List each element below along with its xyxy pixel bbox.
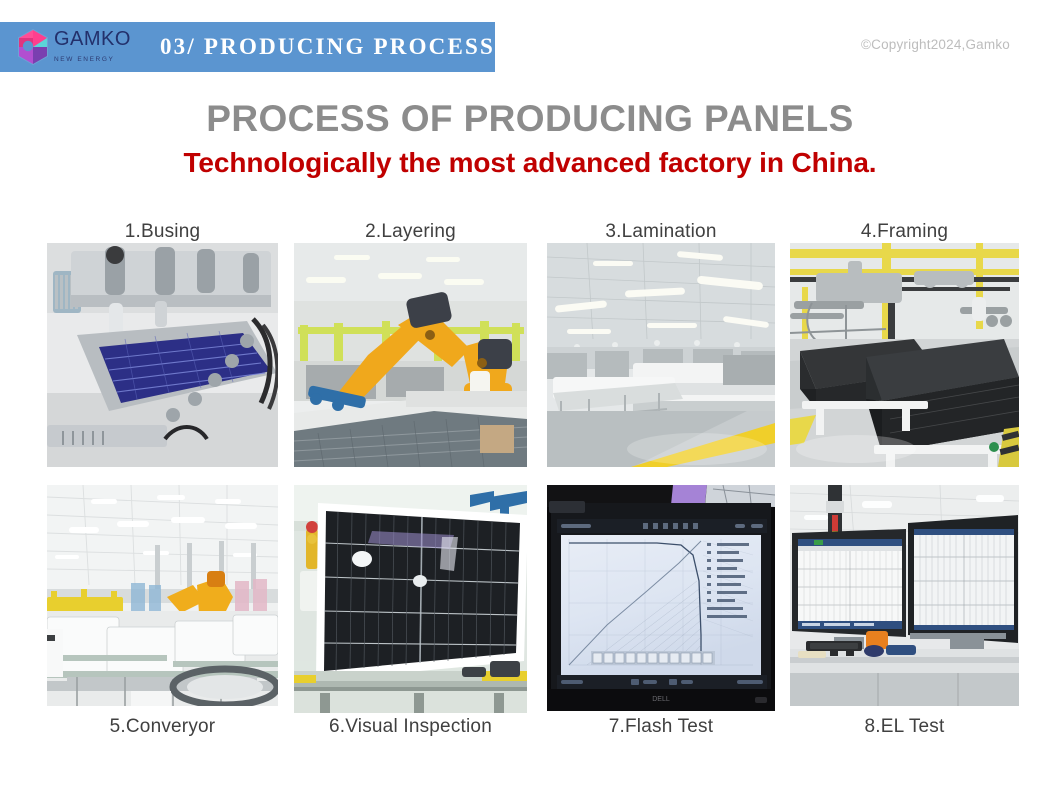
page-title: PROCESS OF PRODUCING PANELS <box>0 98 1060 140</box>
step-caption-3: 3.Lamination <box>547 221 775 243</box>
step-caption-1: 1.Busing <box>47 221 278 243</box>
step-caption-8: 8.EL Test <box>790 716 1019 738</box>
step-caption-6: 6.Visual Inspection <box>294 716 527 738</box>
step-photo-3 <box>547 243 775 467</box>
header-band: GAMKO NEW ENERGY 03/ PRODUCING PROCESS <box>0 22 495 72</box>
brand-logo: GAMKO NEW ENERGY <box>16 28 134 66</box>
step-caption-4: 4.Framing <box>790 221 1019 243</box>
section-title: 03/ PRODUCING PROCESS <box>160 34 495 60</box>
brand-tagline: NEW ENERGY <box>54 56 114 63</box>
step-caption-7: 7.Flash Test <box>547 716 775 738</box>
step-photo-6 <box>294 485 527 713</box>
step-caption-5: 5.Converyor <box>47 716 278 738</box>
step-caption-2: 2.Layering <box>294 221 527 243</box>
step-photo-8 <box>790 485 1019 706</box>
step-photo-2 <box>294 243 527 467</box>
gamko-cube-icon <box>16 28 50 66</box>
brand-logo-text: GAMKO NEW ENERGY <box>54 29 134 65</box>
step-photo-1 <box>47 243 278 467</box>
brand-wordmark: GAMKO <box>54 28 131 50</box>
step-photo-5 <box>47 485 278 706</box>
svg-text:DELL: DELL <box>652 696 670 703</box>
copyright-notice: ©Copyright2024,Gamko <box>861 37 1010 52</box>
page-subtitle: Technologically the most advanced factor… <box>0 147 1060 179</box>
step-photo-4 <box>790 243 1019 467</box>
step-photo-7: DELL <box>547 485 775 711</box>
